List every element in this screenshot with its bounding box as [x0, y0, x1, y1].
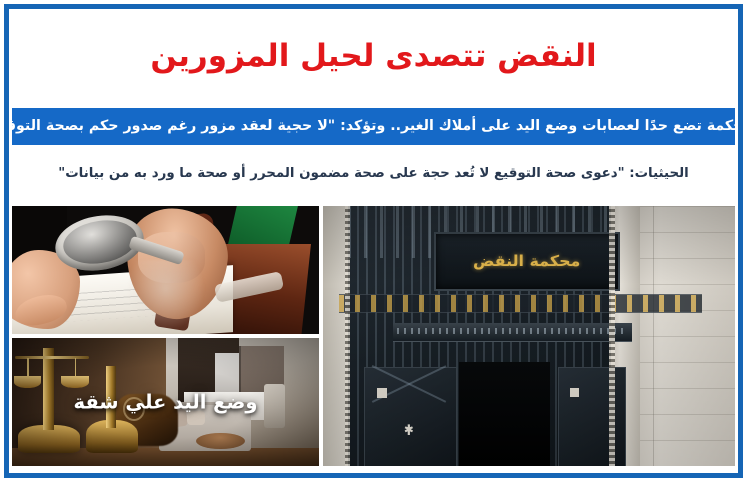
gavel-motion-blur-shape	[126, 260, 206, 332]
collage-right-column: محكمة النقض	[323, 206, 735, 466]
photo-collage: وضع اليد علي شقة محكمة النقض	[12, 206, 735, 466]
photo-caption: وضع اليد علي شقة	[12, 391, 319, 414]
photo-court-facade: محكمة النقض	[323, 206, 735, 466]
photo-magnifier-document	[12, 206, 319, 334]
subtitle-text: الحيثيات: "دعوى صحة التوقيع لا تُعد حجة …	[58, 166, 689, 181]
headline-zone: النقض تتصدى لحيل المزورين	[9, 9, 738, 103]
news-poster: النقض تتصدى لحيل المزورين المحكمة تضع حد…	[4, 4, 743, 478]
subline-zone: الحيثيات: "دعوى صحة التوقيع لا تُعد حجة …	[9, 147, 738, 199]
collage-left-column: وضع اليد علي شقة	[12, 206, 319, 466]
photo-shading-overlay	[323, 206, 735, 466]
photo-scales-apartment: وضع اليد علي شقة	[12, 338, 319, 466]
highlight-banner: المحكمة تضع حدًا لعصابات وضع اليد على أم…	[12, 108, 735, 145]
poster-inner: النقض تتصدى لحيل المزورين المحكمة تضع حد…	[9, 9, 738, 473]
banner-text: المحكمة تضع حدًا لعصابات وضع اليد على أم…	[4, 119, 743, 135]
page-title: النقض تتصدى لحيل المزورين	[150, 39, 596, 73]
